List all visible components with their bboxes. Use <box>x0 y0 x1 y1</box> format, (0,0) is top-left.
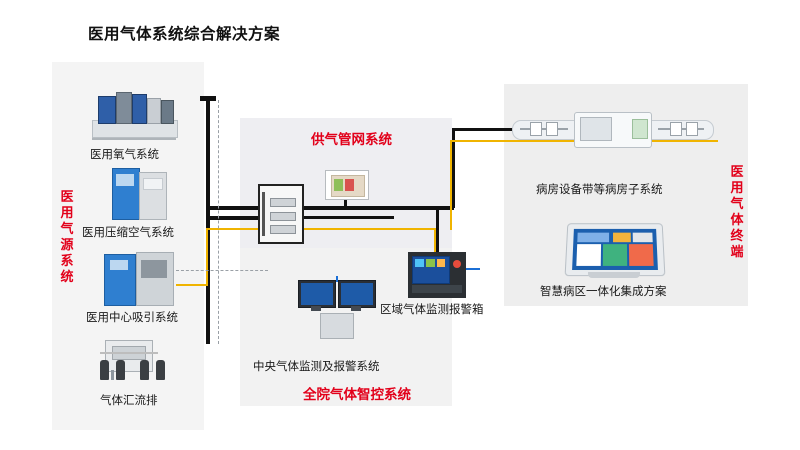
gas-cylinder-icon <box>100 360 109 380</box>
caption-bedhead-subsystem: 病房设备带等病房子系统 <box>536 181 663 197</box>
pipe-to-terminal <box>452 128 514 131</box>
section-label-central-control: 全院气体智控系统 <box>303 383 411 403</box>
section-label-pipe-network: 供气管网系统 <box>311 128 392 148</box>
signal-yellow-riser <box>206 228 208 286</box>
gas-cylinder-icon <box>140 360 149 380</box>
signal-yellow-drop <box>434 228 436 254</box>
pipe-riser-cap <box>200 96 216 101</box>
caption-vacuum-system: 医用中心吸引系统 <box>86 309 178 325</box>
guide-dashed-vertical <box>218 100 219 344</box>
diagram-canvas: 医用气体系统综合解决方案 医用氧气系统 <box>0 0 800 450</box>
page-title: 医用气体系统综合解决方案 <box>88 22 280 44</box>
section-label-gas-source: 医用气源系统 <box>58 190 76 286</box>
caption-smart-ward: 智慧病区一体化集成方案 <box>540 283 667 299</box>
central-workstation-icon <box>298 280 374 338</box>
section-label-gas-terminal: 医用气体终端 <box>728 165 746 261</box>
caption-oxygen-system: 医用氧气系统 <box>90 146 159 162</box>
zone-valve-icon <box>325 170 369 200</box>
signal-yellow-trunk <box>300 228 436 230</box>
caption-gas-manifold: 气体汇流排 <box>100 392 158 408</box>
zone-alarm-box-icon <box>408 252 466 298</box>
pipe-feed-upper <box>206 206 262 210</box>
oxygen-generator-icon <box>92 86 176 140</box>
signal-yellow-source <box>176 284 208 286</box>
data-blue-zonealarm <box>466 268 480 270</box>
vacuum-pump-icon <box>104 252 172 304</box>
pipe-branch-zonealarm <box>436 206 439 254</box>
caption-zone-alarm: 区域气体监测报警箱 <box>380 301 484 317</box>
pipe-trunk-secondary <box>298 216 394 219</box>
guide-dashed-horizontal <box>176 270 268 271</box>
signal-yellow-to-box <box>206 228 264 230</box>
pipe-riser-vertical <box>206 98 210 344</box>
pipe-trunk-main <box>298 206 454 210</box>
air-compressor-icon <box>112 168 166 218</box>
gas-cylinder-icon <box>116 360 125 380</box>
manifold-header-pipe <box>100 352 158 354</box>
caption-compressed-air-system: 医用压缩空气系统 <box>82 224 174 240</box>
pipe-feed-lower <box>206 216 262 220</box>
bed-head-unit-icon <box>512 108 712 150</box>
caption-central-monitor: 中央气体监测及报警系统 <box>253 358 380 374</box>
signal-yellow-terminal-riser <box>450 140 452 230</box>
ward-tablet-icon <box>566 222 662 280</box>
valve-box-icon <box>258 184 304 244</box>
gas-cylinder-icon <box>156 360 165 380</box>
